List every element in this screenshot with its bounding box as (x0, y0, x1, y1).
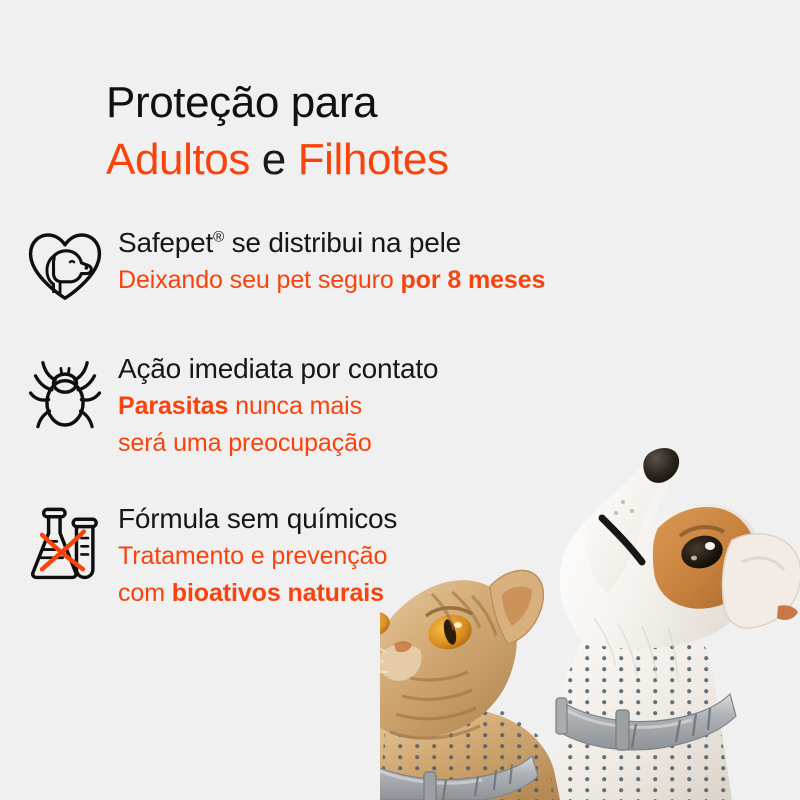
dog-ear (723, 534, 800, 628)
cat-nose (394, 641, 412, 652)
feature-item-no-chemicals: Fórmula sem químicos Tratamento e preven… (0, 500, 700, 630)
registered-mark-icon: ® (213, 229, 224, 246)
feature-subtitle-line: Deixando seu pet seguro por 8 meses (118, 262, 700, 299)
feature-title: Fórmula sem químicos (118, 500, 700, 538)
feature-sub-bold: Parasitas (118, 392, 228, 420)
promo-poster: Proteção para Adultos e Filhotes Safepe (0, 0, 800, 800)
dog-eye-highlight (705, 542, 715, 550)
cat-whiskers (380, 634, 388, 682)
dog-body (552, 615, 732, 800)
feature-item-contact-action: Ação imediata por contato Parasitas nunc… (0, 350, 700, 482)
dog-collar (556, 694, 736, 750)
heading-line-1: Proteção para (106, 74, 449, 131)
dog-ear-inner (777, 605, 798, 620)
feature-sub-bold: bioativos naturais (172, 579, 384, 607)
feature-title: Ação imediata por contato (118, 350, 700, 388)
cat-body (380, 708, 560, 800)
feature-item-safepet: Safepet® se distribui na pele Deixando s… (0, 224, 700, 332)
feature-sub-normal: com (118, 579, 172, 607)
cat-collar (380, 756, 538, 800)
heading-line-2: Adultos e Filhotes (106, 131, 449, 188)
page-title: Proteção para Adultos e Filhotes (106, 74, 449, 188)
feature-title: Safepet® se distribui na pele (118, 224, 700, 262)
heart-dog-icon (24, 226, 106, 308)
tick-parasite-icon (24, 352, 106, 434)
feature-subtitle-line: Parasitas nunca mais (118, 388, 700, 425)
dog-body-pattern (550, 610, 750, 800)
feature-subtitle-line: será uma preocupação (118, 425, 700, 462)
feature-list: Safepet® se distribui na pele Deixando s… (0, 224, 700, 630)
feature-sub-bold: por 8 meses (401, 266, 546, 294)
feature-subtitle-line: com bioativos naturais (118, 575, 700, 612)
feature-subtitle-line: Tratamento e prevenção (118, 538, 700, 575)
no-chemicals-flask-icon (24, 502, 106, 584)
cat-collar-buckle (424, 772, 436, 800)
heading-adultos: Adultos (106, 135, 250, 184)
feature-title-suffix: se distribui na pele (224, 227, 461, 258)
feature-sub-normal: Deixando seu pet seguro (118, 266, 401, 294)
cat-muzzle (380, 644, 422, 681)
feature-sub-normal: Tratamento e prevenção (118, 542, 387, 570)
heading-conjunction: e (250, 135, 298, 184)
feature-sub-normal: será uma preocupação (118, 429, 372, 457)
feature-title-prefix: Safepet (118, 227, 213, 258)
cat-body-pattern (380, 700, 570, 800)
heading-filhotes: Filhotes (298, 135, 449, 184)
dog-collar-buckle (616, 710, 629, 750)
feature-sub-normal: nunca mais (228, 392, 362, 420)
